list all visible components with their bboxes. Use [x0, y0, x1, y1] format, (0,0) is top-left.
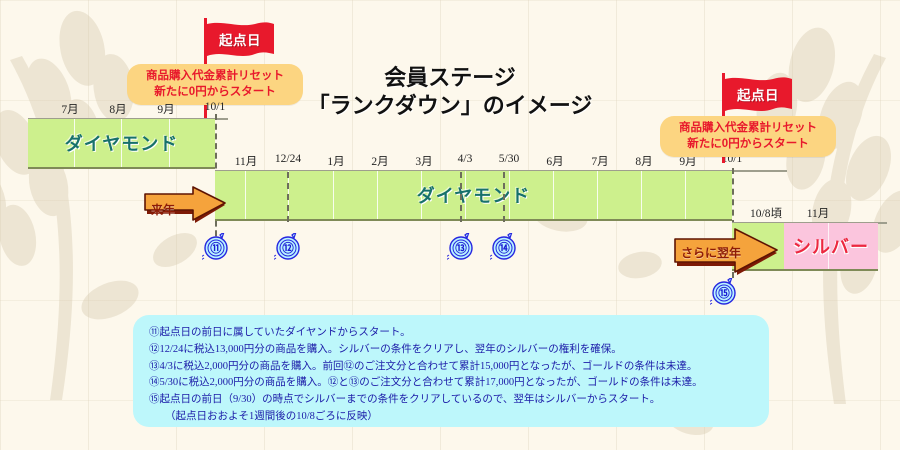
notes-panel: ⑪起点日の前日に属していたダイヤンドからスタート。 ⑫12/24に税込13,00…	[133, 315, 769, 427]
tick-row2-2: 1月	[316, 153, 356, 169]
bubble-number: ⑬	[447, 235, 475, 261]
tick-row2-8: 7月	[580, 153, 620, 169]
tick-row2-3: 2月	[360, 153, 400, 169]
arrow-label: 来年	[151, 201, 175, 218]
page-title: 会員ステージ 「ランクダウン」のイメージ	[250, 64, 650, 119]
bubble-number: ⑮	[710, 280, 738, 306]
tick-row3-1: 11月	[798, 205, 838, 221]
tick-row1-3: 10/1	[193, 101, 237, 113]
arrow-label: さらに翌年	[681, 244, 741, 261]
note-item-15-sub: （起点日おおよそ1週間後の10/8ごろに反映）	[149, 409, 753, 425]
tick-row2-6: 5/30	[487, 153, 531, 165]
row2-divider-0403	[460, 172, 462, 222]
callout-line-2: 新たに0円からスタート	[137, 85, 293, 101]
tick-row1-0: 7月	[50, 101, 90, 117]
bubble-marker-11: ⑪	[202, 233, 230, 261]
next-year-arrow: 来年	[143, 186, 228, 224]
row2-stage-label: ダイヤモンド	[215, 182, 732, 208]
note-item-15: ⑮起点日の前日（9/30）の時点でシルバーまでの条件をクリアしているので、翌年は…	[149, 392, 753, 408]
tick-row2-9: 8月	[624, 153, 664, 169]
note-item-13: ⑬4/3に税込2,000円分の商品を購入。前回⑫のご注文分と合わせて累計15,0…	[149, 359, 753, 375]
tick-row1-2: 9月	[146, 101, 186, 117]
callout-line-2: 新たに0円からスタート	[670, 137, 826, 153]
bubble-number: ⑫	[274, 235, 302, 261]
infographic-canvas: 会員ステージ 「ランクダウン」のイメージ 起点日 商品購入代金累計リセット 新た…	[0, 0, 900, 450]
row1-diamond-bar: ダイヤモンド	[28, 119, 215, 169]
tick-row2-5: 4/3	[445, 153, 485, 165]
row2-divider-0530	[503, 172, 505, 222]
callout-line-1: 商品購入代金累計リセット	[137, 69, 293, 85]
tick-row1-1: 8月	[98, 101, 138, 117]
year-after-next-arrow: さらに翌年	[673, 228, 781, 276]
note-item-14: ⑭5/30に税込2,000円分の商品を購入。⑫と⑬のご注文分と合わせて累計17,…	[149, 375, 753, 391]
flag-label: 起点日	[207, 22, 273, 55]
bubble-marker-12: ⑫	[274, 233, 302, 261]
note-item-12: ⑫12/24に税込13,000円分の商品を購入。シルバーの条件をクリアし、翌年の…	[149, 342, 753, 358]
callout-line-1: 商品購入代金累計リセット	[670, 121, 826, 137]
note-item-11: ⑪起点日の前日に属していたダイヤンドからスタート。	[149, 325, 753, 341]
row2-divider-1224	[287, 172, 289, 222]
flag-label: 起点日	[725, 77, 791, 110]
reset-callout-left: 商品購入代金累計リセット 新たに0円からスタート	[127, 64, 303, 105]
tick-row3-0: 10/8頃	[742, 205, 790, 221]
row3-stage-label: シルバー	[784, 233, 878, 259]
title-line-1: 会員ステージ	[250, 64, 650, 92]
row3-silver-bar: シルバー	[784, 223, 878, 271]
reset-callout-right: 商品購入代金累計リセット 新たに0円からスタート	[660, 116, 836, 157]
bubble-marker-13: ⑬	[447, 233, 475, 261]
tick-row2-4: 3月	[404, 153, 444, 169]
title-line-2: 「ランクダウン」のイメージ	[250, 92, 650, 120]
tick-row2-0: 11月	[226, 153, 266, 169]
bubble-number: ⑪	[202, 235, 230, 261]
tick-row2-7: 6月	[535, 153, 575, 169]
row2-diamond-bar: ダイヤモンド	[215, 171, 732, 221]
bubble-number: ⑭	[490, 235, 518, 261]
bubble-marker-14: ⑭	[490, 233, 518, 261]
bubble-marker-15: ⑮	[710, 278, 738, 306]
tick-row2-1: 12/24	[262, 153, 314, 165]
row1-stage-label: ダイヤモンド	[28, 130, 215, 156]
